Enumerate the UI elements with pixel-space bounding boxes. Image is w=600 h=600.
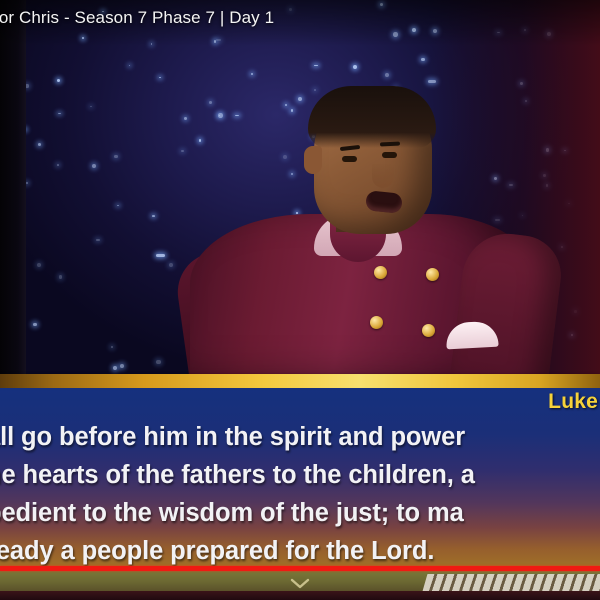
chevron-down-icon: [290, 578, 310, 590]
jacket-button: [422, 324, 435, 337]
speaker-figure: [190, 84, 540, 384]
speaker-nose: [372, 164, 394, 188]
speaker-eye: [342, 156, 357, 162]
jacket-button: [374, 266, 387, 279]
speaker-eye: [382, 152, 397, 158]
verse-line-2: he hearts of the fathers to the children…: [0, 456, 600, 494]
video-title-overlay: tor Chris - Season 7 Phase 7 | Day 1: [0, 0, 600, 46]
verse-line-3: bedient to the wisdom of the just; to ma: [0, 494, 600, 532]
scripture-lower-third: Luke all go before him in the spirit and…: [0, 374, 600, 567]
verse-line-1: all go before him in the spirit and powe…: [0, 418, 600, 456]
jacket-button: [426, 268, 439, 281]
expand-panel-button[interactable]: [287, 576, 313, 592]
video-player[interactable]: Luke all go before him in the spirit and…: [0, 0, 600, 600]
scripture-reference: Luke: [548, 390, 598, 414]
speaker-ear: [304, 146, 322, 174]
stage-curtain-left: [0, 0, 26, 382]
scripture-text: all go before him in the spirit and powe…: [0, 418, 600, 570]
video-title[interactable]: tor Chris - Season 7 Phase 7 | Day 1: [0, 8, 274, 28]
jacket-button: [370, 316, 383, 329]
progress-bar-track[interactable]: [0, 566, 600, 571]
gold-divider-bar: [0, 374, 600, 388]
progress-bar-fill[interactable]: [0, 566, 600, 571]
stage-floor-shadow: [0, 591, 600, 600]
verse-line-4: ready a people prepared for the Lord.: [0, 532, 600, 570]
speaker-hair: [308, 86, 436, 148]
